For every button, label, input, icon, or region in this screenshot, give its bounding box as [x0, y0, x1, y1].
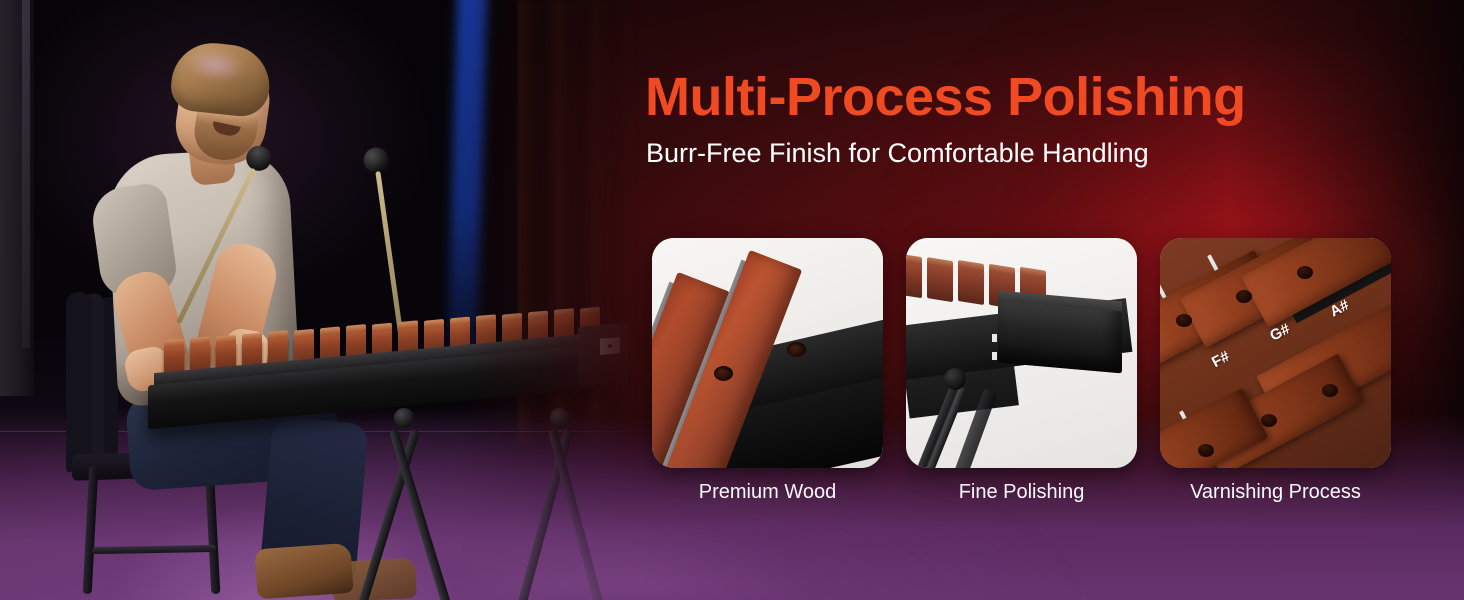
varnishing-process-photo: F# G# A#	[1160, 238, 1391, 468]
suspension-hole	[1236, 290, 1252, 303]
suspension-hole	[1261, 414, 1277, 427]
stand-knob	[394, 408, 414, 428]
stand-knob	[550, 408, 570, 428]
chair-backrest	[66, 292, 92, 473]
player-boot-front	[254, 543, 353, 600]
brand-logo-icon	[600, 337, 620, 355]
wood-bar	[906, 260, 922, 298]
endcap-face	[998, 301, 1122, 374]
card-caption: Premium Wood	[652, 481, 883, 504]
card-caption: Varnishing Process	[1160, 481, 1391, 504]
feature-card[interactable]: Fine Polishing	[906, 238, 1137, 504]
suspension-hole	[787, 342, 806, 357]
feature-card-list: Premium Wood Fine Polishing	[652, 238, 1391, 504]
wood-bar	[927, 264, 953, 302]
content-panel: Multi-Process Polishing Burr-Free Finish…	[640, 0, 1464, 600]
screw-icon	[992, 334, 997, 342]
fine-polishing-photo	[906, 238, 1137, 468]
screw-icon	[992, 352, 997, 360]
card-caption: Fine Polishing	[906, 481, 1137, 504]
stage-wall-trim	[22, 0, 30, 348]
hero-photo	[0, 0, 640, 600]
product-feature-banner: Multi-Process Polishing Burr-Free Finish…	[0, 0, 1464, 600]
suspension-hole	[1297, 266, 1313, 279]
suspension-hole	[1176, 314, 1192, 327]
suspension-hole	[714, 366, 733, 381]
suspension-hole	[1198, 444, 1214, 457]
xylophone	[148, 330, 640, 450]
banner-title: Multi-Process Polishing	[645, 66, 1246, 128]
feature-card[interactable]: F# G# A# Varnishing Process	[1160, 238, 1391, 504]
wood-bar	[958, 267, 984, 305]
feature-card[interactable]: Premium Wood	[652, 238, 883, 504]
suspension-hole	[1322, 384, 1338, 397]
premium-wood-photo	[652, 238, 883, 468]
banner-subtitle: Burr-Free Finish for Comfortable Handlin…	[646, 138, 1149, 169]
stand-knob	[944, 368, 966, 390]
